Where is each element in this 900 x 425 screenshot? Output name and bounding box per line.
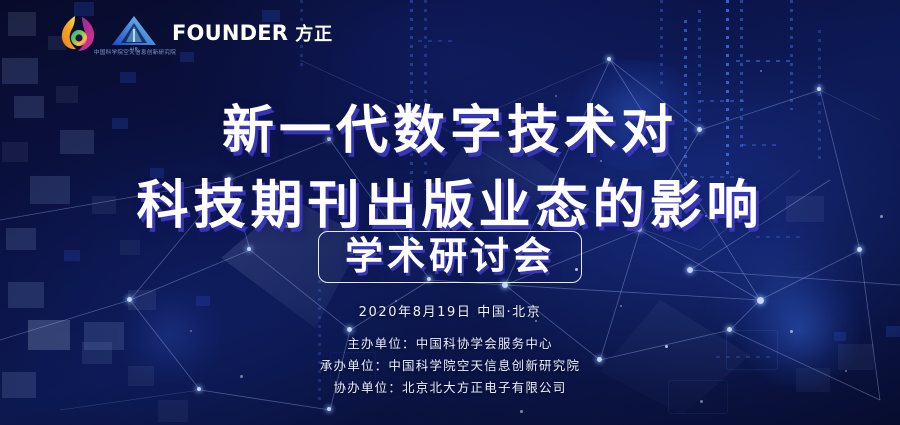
conference-poster: AIR 中国科学院空天信息创新研究院 FOUNDER 方正 新一代数字技术对 科…	[0, 0, 900, 425]
title-line-1: 新一代数字技术对	[0, 88, 900, 163]
subtitle-text: 学术研讨会	[345, 237, 555, 275]
organizer-coorganizer: 协办单位：北京北大方正电子有限公司	[334, 377, 567, 396]
organizer-undertaker: 承办单位：中国科学院空天信息创新研究院	[320, 355, 580, 374]
title-line-2: 科技期刊出版业态的影响	[0, 163, 900, 238]
organizer-host: 主办单位：中国科协学会服务中心	[347, 333, 553, 352]
subtitle-box: 学术研讨会	[318, 231, 582, 283]
event-datetime-location: 2020年8月19日 中国·北京	[0, 301, 900, 320]
poster-content: 新一代数字技术对 科技期刊出版业态的影响 学术研讨会 2020年8月19日 中国…	[0, 0, 900, 425]
subtitle-container: 学术研讨会	[0, 231, 900, 283]
organizers-list: 主办单位：中国科协学会服务中心 承办单位：中国科学院空天信息创新研究院 协办单位…	[0, 333, 900, 396]
